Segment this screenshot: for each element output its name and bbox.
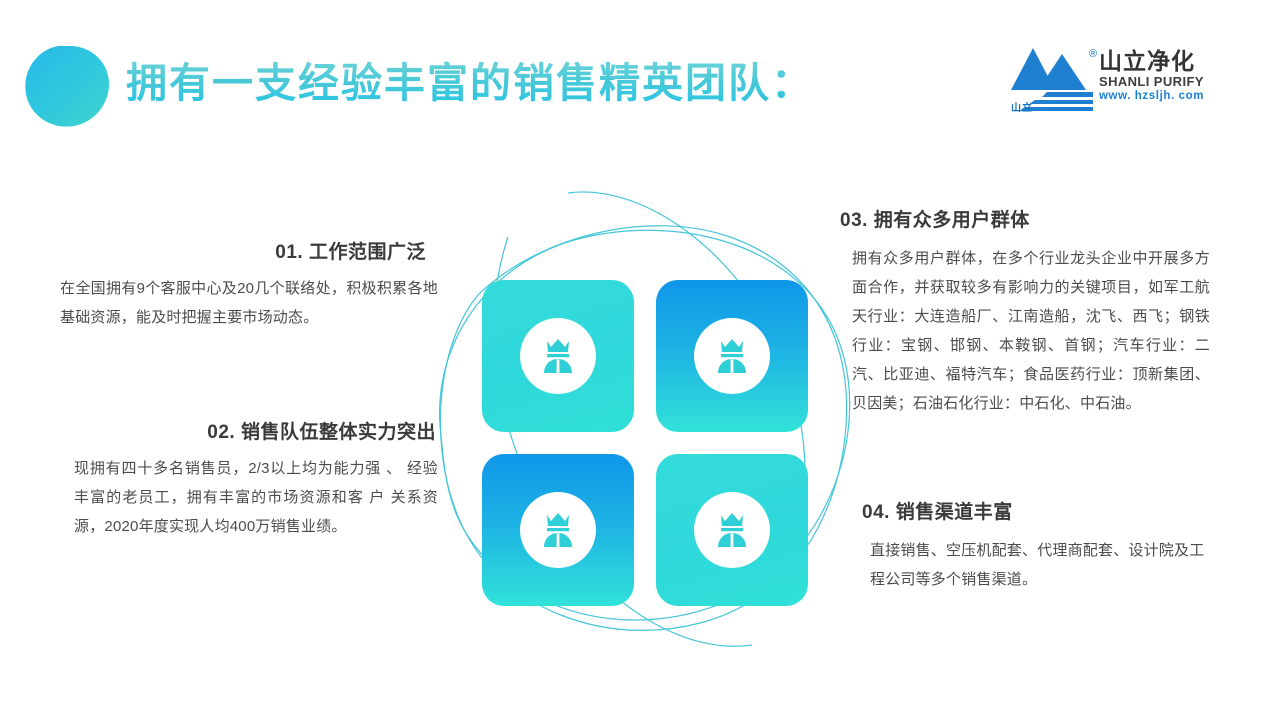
- section-02-heading: 02. 销售队伍整体实力突出: [60, 420, 438, 446]
- icon-circle: [694, 318, 770, 394]
- organic-blob-shape-icon: [24, 44, 110, 128]
- logo-name-cn: 山立净化: [1099, 48, 1225, 74]
- page-title: 拥有一支经验丰富的销售精英团队：: [126, 57, 814, 109]
- tile-bottom-right[interactable]: [656, 454, 808, 606]
- section-02-body: 现拥有四十多名销售员，2/3以上均为能力强 、 经验丰富的老员工，拥有丰富的市场…: [60, 454, 438, 541]
- logo-text-block: 山立净化 SHANLI PURIFY www. hzsljh. com: [1099, 48, 1225, 103]
- section-03-body: 拥有众多用户群体，在多个行业龙头企业中开展多方面合作，并获取较多有影响力的关键项…: [840, 244, 1210, 418]
- icon-circle: [520, 318, 596, 394]
- crowned-person-icon: [537, 335, 579, 377]
- logo-website: www. hzsljh. com: [1099, 89, 1225, 103]
- company-logo: 山立 ® 山立净化 SHANLI PURIFY www. hzsljh. com: [1007, 44, 1222, 116]
- tile-top-left[interactable]: [482, 280, 634, 432]
- section-04-body: 直接销售、空压机配套、代理商配套、设计院及工程公司等多个销售渠道。: [862, 536, 1212, 594]
- section-01: 01. 工作范围广泛 在全国拥有9个客服中心及20几个联络处，积极积累各地基础资…: [60, 240, 438, 332]
- icon-tile-grid: [482, 280, 808, 606]
- icon-circle: [694, 492, 770, 568]
- registered-trademark-icon: ®: [1089, 48, 1097, 60]
- section-04: 04. 销售渠道丰富 直接销售、空压机配套、代理商配套、设计院及工程公司等多个销…: [862, 500, 1212, 594]
- section-03: 03. 拥有众多用户群体 拥有众多用户群体，在多个行业龙头企业中开展多方面合作，…: [840, 208, 1210, 418]
- logo-mark-label: 山立: [1011, 99, 1033, 114]
- center-graphic: [400, 175, 890, 665]
- crowned-person-icon: [537, 509, 579, 551]
- section-01-heading: 01. 工作范围广泛: [60, 240, 438, 266]
- tile-top-right[interactable]: [656, 280, 808, 432]
- crowned-person-icon: [711, 335, 753, 377]
- crowned-person-icon: [711, 509, 753, 551]
- tile-bottom-left[interactable]: [482, 454, 634, 606]
- section-02: 02. 销售队伍整体实力突出 现拥有四十多名销售员，2/3以上均为能力强 、 经…: [60, 420, 438, 541]
- icon-circle: [520, 492, 596, 568]
- section-01-body: 在全国拥有9个客服中心及20几个联络处，积极积累各地基础资源，能及时把握主要市场…: [60, 274, 438, 332]
- logo-name-en: SHANLI PURIFY: [1099, 74, 1225, 89]
- slide-header: 拥有一支经验丰富的销售精英团队： 山立 ® 山立净化 SHANLI PURIFY…: [0, 0, 1280, 140]
- section-03-heading: 03. 拥有众多用户群体: [840, 208, 1210, 234]
- section-04-heading: 04. 销售渠道丰富: [862, 500, 1212, 526]
